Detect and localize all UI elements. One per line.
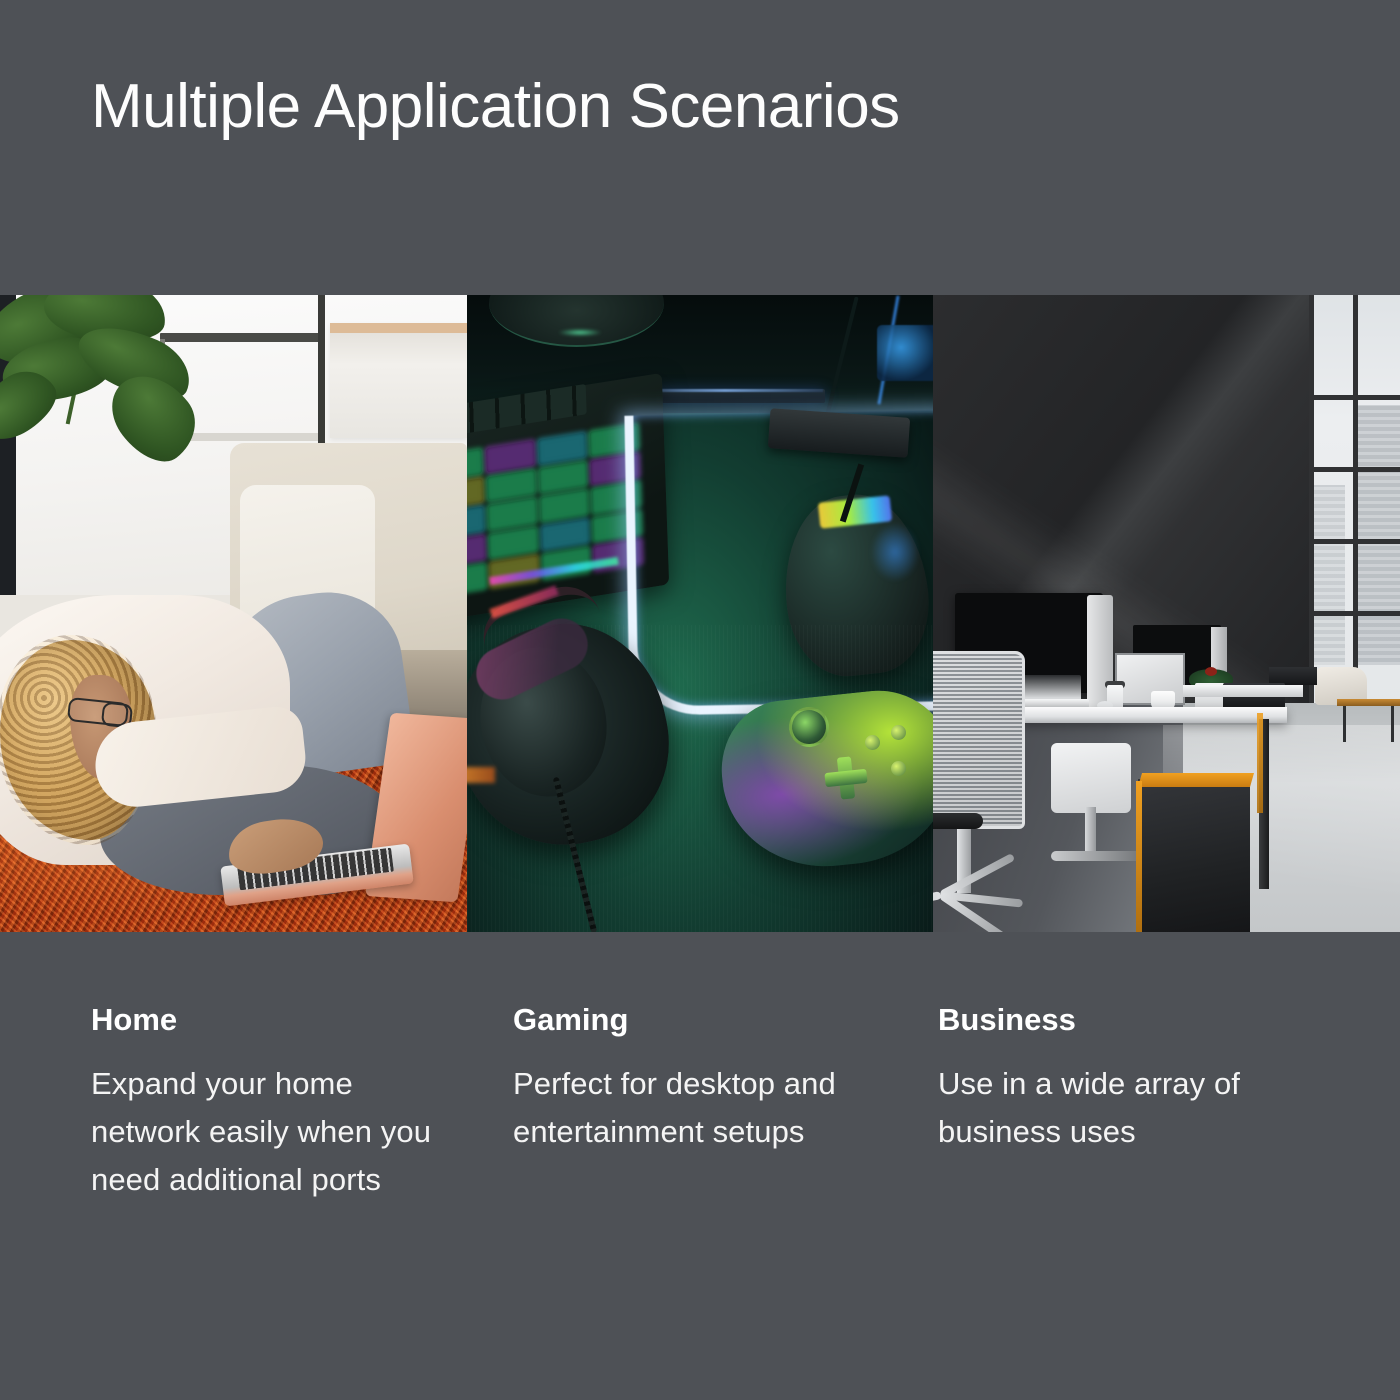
chair-armrest [933,813,983,829]
page-header: Multiple Application Scenarios [0,0,1400,295]
chair-base [1051,851,1141,861]
city-building [1355,405,1400,665]
scenario-image-home [0,295,467,932]
keycap [489,527,537,558]
window-mullion-horizontal [1313,467,1400,472]
scenario-image-band [0,295,1400,932]
scenario-image-gaming [467,295,933,932]
scenario-title-gaming: Gaming [513,1004,893,1035]
bench-leg [1391,706,1394,742]
monstera-plant [0,295,200,455]
wooden-bench [1337,699,1400,706]
blue-glowing-device [877,325,933,381]
window-mullion-horizontal [1313,611,1400,616]
cabinet-orange-edge [1257,713,1263,813]
page-title: Multiple Application Scenarios [91,76,900,138]
controller-face-button [891,761,906,776]
office-desk-rear [1183,685,1303,697]
city-building [1313,485,1345,665]
office-window-wall [1313,295,1400,715]
air-conditioner-unit [330,323,467,438]
keycap [538,433,586,464]
scenario-body-gaming: Perfect for desktop and entertainment se… [513,1060,863,1156]
chair-star-base [933,887,1053,931]
gaming-scene-illustration [467,295,933,932]
controller-dpad [823,755,869,801]
window-mullion-horizontal [1313,539,1400,544]
controller-face-button [891,725,906,740]
desk-plant-flower [1205,667,1217,676]
keycap [467,564,486,595]
cabinet-orange-edge [1136,781,1142,932]
bench-leg [1343,706,1346,742]
window-mullion-horizontal [1313,395,1400,400]
application-scenarios-page: Multiple Application Scenarios [0,0,1400,1400]
scenario-body-home: Expand your home network easily when you… [91,1060,449,1204]
keycap [541,519,589,550]
orange-accent-glow [467,767,495,783]
keycap [539,461,587,492]
scenario-description-columns: Home Expand your home network easily whe… [0,932,1400,1400]
wall-window-divider [1309,295,1314,715]
scenario-column-business: Business Use in a wide array of business… [938,932,1318,1156]
gaming-mouse-blue-glow [871,523,919,581]
keycap [487,470,535,501]
keycap [488,498,536,529]
keycap [540,490,588,521]
scenario-title-business: Business [938,1004,1318,1035]
laptop [1017,675,1081,701]
chair-base-leg [933,891,942,916]
storage-cabinet [1138,779,1250,932]
office-chair-secondary [1051,743,1131,813]
monitor-led-glow [559,329,601,336]
office-desk-front [1015,707,1287,723]
controller-face-button [865,735,880,750]
window-mullion-vertical [1353,295,1358,715]
scenario-column-home: Home Expand your home network easily whe… [91,932,471,1204]
keycap [486,441,534,472]
cabinet-orange-top [1138,773,1254,787]
scenario-image-business [933,295,1400,932]
home-scene-illustration [0,295,467,932]
scenario-body-business: Use in a wide array of business uses [938,1060,1308,1156]
office-chair-mesh-back [933,651,1025,829]
scenario-title-home: Home [91,1004,471,1035]
business-scene-illustration [933,295,1400,932]
scenario-column-gaming: Gaming Perfect for desktop and entertain… [513,932,893,1156]
